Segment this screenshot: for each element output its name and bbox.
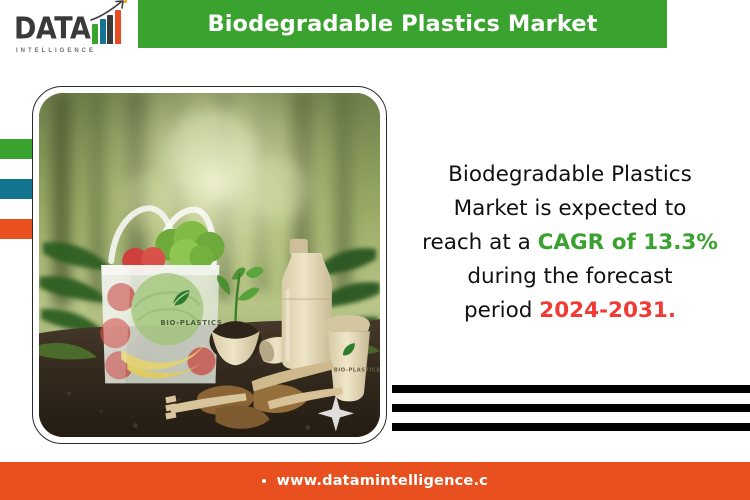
decorative-stripe xyxy=(392,385,750,393)
decorative-stripe xyxy=(392,404,750,412)
brand-logo[interactable]: DATA INTELLIGENCE xyxy=(14,8,129,64)
svg-text:BIO-PLASTICS: BIO-PLASTICS xyxy=(160,318,222,327)
decorative-stripe xyxy=(392,423,750,431)
logo-mark: DATA xyxy=(14,8,129,44)
statement-line-2: Market is expected to xyxy=(454,196,687,221)
market-statement: Biodegradable Plastics Market is expecte… xyxy=(405,158,735,328)
bullet-icon xyxy=(262,479,266,483)
bio-plastic-bag: BIO-PLASTICS xyxy=(100,208,224,383)
cagr-highlight: CAGR of 13.3% xyxy=(538,230,718,255)
stripe-spacer xyxy=(392,393,750,404)
logo-wordmark: DATA xyxy=(14,14,90,44)
stripe-spacer xyxy=(392,412,750,423)
decorative-stripe-group xyxy=(392,385,750,431)
logo-subtitle: INTELLIGENCE xyxy=(14,48,129,54)
svg-text:BIO-PLASTICS: BIO-PLASTICS xyxy=(334,367,380,373)
accent-bar-group xyxy=(0,139,32,239)
hero-image: BIO-PLASTICS xyxy=(39,93,380,437)
statement-line-5-prefix: period xyxy=(464,298,539,323)
accent-bar-spacer xyxy=(0,159,32,179)
accent-bar-teal xyxy=(0,179,32,199)
accent-bar-orange xyxy=(0,219,32,239)
accent-bar-green xyxy=(0,139,32,159)
hero-image-frame: BIO-PLASTICS xyxy=(32,86,387,444)
accent-bar-spacer xyxy=(0,199,32,219)
footer-bar: www.datamintelligence.c xyxy=(0,462,750,500)
website-url[interactable]: www.datamintelligence.c xyxy=(277,473,488,489)
statement-line-4: during the forecast xyxy=(467,264,672,289)
forecast-period-highlight: 2024-2031. xyxy=(539,298,676,323)
hero-image-illustration: BIO-PLASTICS xyxy=(39,93,380,437)
page-title: Biodegradable Plastics Market xyxy=(207,11,597,37)
logo-bar-chart-icon xyxy=(92,10,121,44)
statement-line-3-prefix: reach at a xyxy=(422,230,538,255)
page-title-banner: Biodegradable Plastics Market xyxy=(138,0,667,48)
statement-line-1: Biodegradable Plastics xyxy=(448,162,692,187)
